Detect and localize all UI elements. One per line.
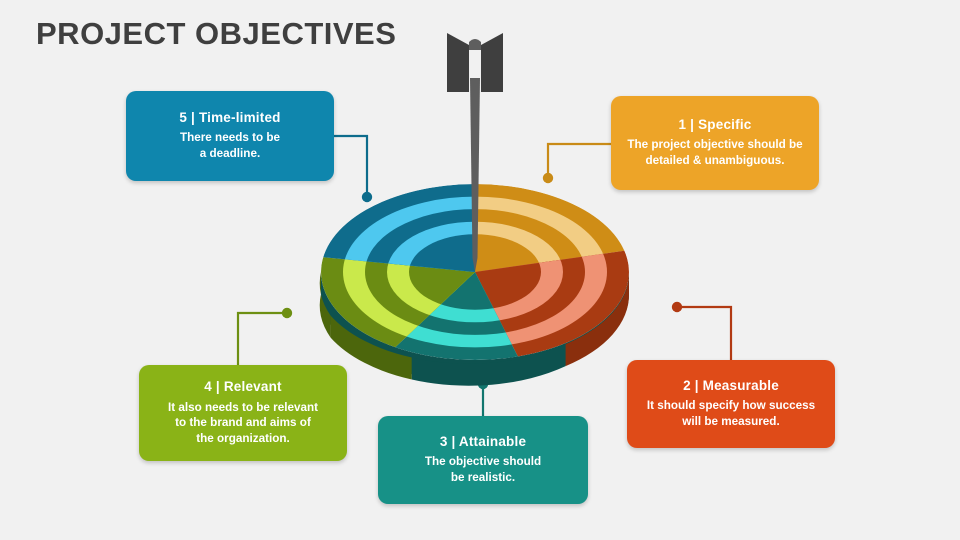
connector-dot-relevant <box>282 308 292 318</box>
connector-dot-time-limited <box>362 192 372 202</box>
card-title-relevant: 4 | Relevant <box>204 380 281 395</box>
connector-dot-specific <box>543 173 553 183</box>
card-body-line3: the organization. <box>168 431 318 447</box>
card-body-time-limited: There needs to be a deadline. <box>168 130 292 161</box>
card-body-line2: detailed & unambiguous. <box>627 153 802 169</box>
card-body-line2: to the brand and aims of <box>168 415 318 431</box>
card-body-line2: be realistic. <box>425 470 541 486</box>
card-time-limited[interactable]: 5 | Time-limited There needs to be a dea… <box>126 91 334 181</box>
card-body-line1: The project objective should be <box>627 137 802 153</box>
card-body-line1: The objective should <box>425 454 541 470</box>
card-body-line1: It also needs to be relevant <box>168 400 318 416</box>
card-title-attainable: 3 | Attainable <box>440 435 526 450</box>
slide-canvas: PROJECT OBJECTIVES <box>0 0 960 540</box>
card-measurable[interactable]: 2 | Measurable It should specify how suc… <box>627 360 835 448</box>
card-relevant[interactable]: 4 | Relevant It also needs to be relevan… <box>139 365 347 461</box>
card-title-measurable: 2 | Measurable <box>683 379 779 394</box>
connector-specific <box>543 144 611 183</box>
card-body-relevant: It also needs to be relevant to the bran… <box>156 400 330 447</box>
card-body-line1: There needs to be <box>180 130 280 146</box>
card-body-line2: will be measured. <box>647 414 815 430</box>
card-body-line2: a deadline. <box>180 146 280 162</box>
card-title-time-limited: 5 | Time-limited <box>179 111 280 126</box>
card-body-measurable: It should specify how success will be me… <box>635 398 827 429</box>
card-body-attainable: The objective should be realistic. <box>413 454 553 485</box>
card-body-specific: The project objective should be detailed… <box>615 137 814 168</box>
card-body-line1: It should specify how success <box>647 398 815 414</box>
connector-time-limited <box>334 136 372 202</box>
connector-measurable <box>672 302 731 360</box>
connector-dot-measurable <box>672 302 682 312</box>
connector-relevant <box>238 308 292 365</box>
card-title-specific: 1 | Specific <box>679 118 752 133</box>
card-attainable[interactable]: 3 | Attainable The objective should be r… <box>378 416 588 504</box>
card-specific[interactable]: 1 | Specific The project objective shoul… <box>611 96 819 190</box>
